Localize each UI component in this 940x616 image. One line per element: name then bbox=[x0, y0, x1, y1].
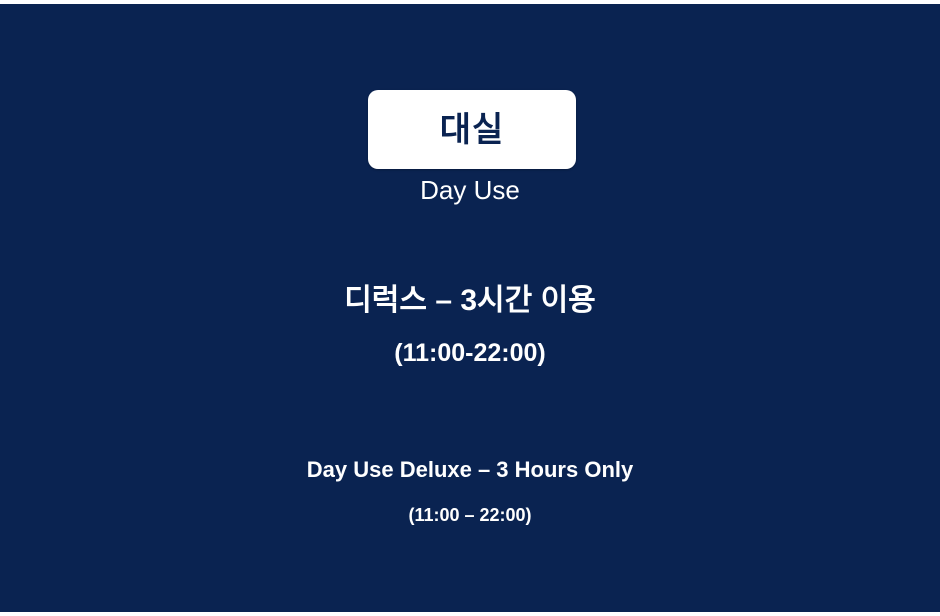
day-use-title-badge: 대실 bbox=[368, 90, 576, 169]
room-hours-english: (11:00 – 22:00) bbox=[0, 504, 940, 527]
slide-canvas: 대실 Day Use 디럭스 – 3시간 이용 (11:00-22:00) Da… bbox=[0, 4, 940, 612]
room-type-korean: 디럭스 – 3시간 이용 bbox=[0, 282, 940, 320]
room-hours-korean: (11:00-22:00) bbox=[0, 338, 940, 369]
room-type-english: Day Use Deluxe – 3 Hours Only bbox=[0, 456, 940, 484]
day-use-title-badge-label: 대실 bbox=[440, 113, 505, 147]
day-use-subtitle-english: Day Use bbox=[0, 175, 940, 206]
